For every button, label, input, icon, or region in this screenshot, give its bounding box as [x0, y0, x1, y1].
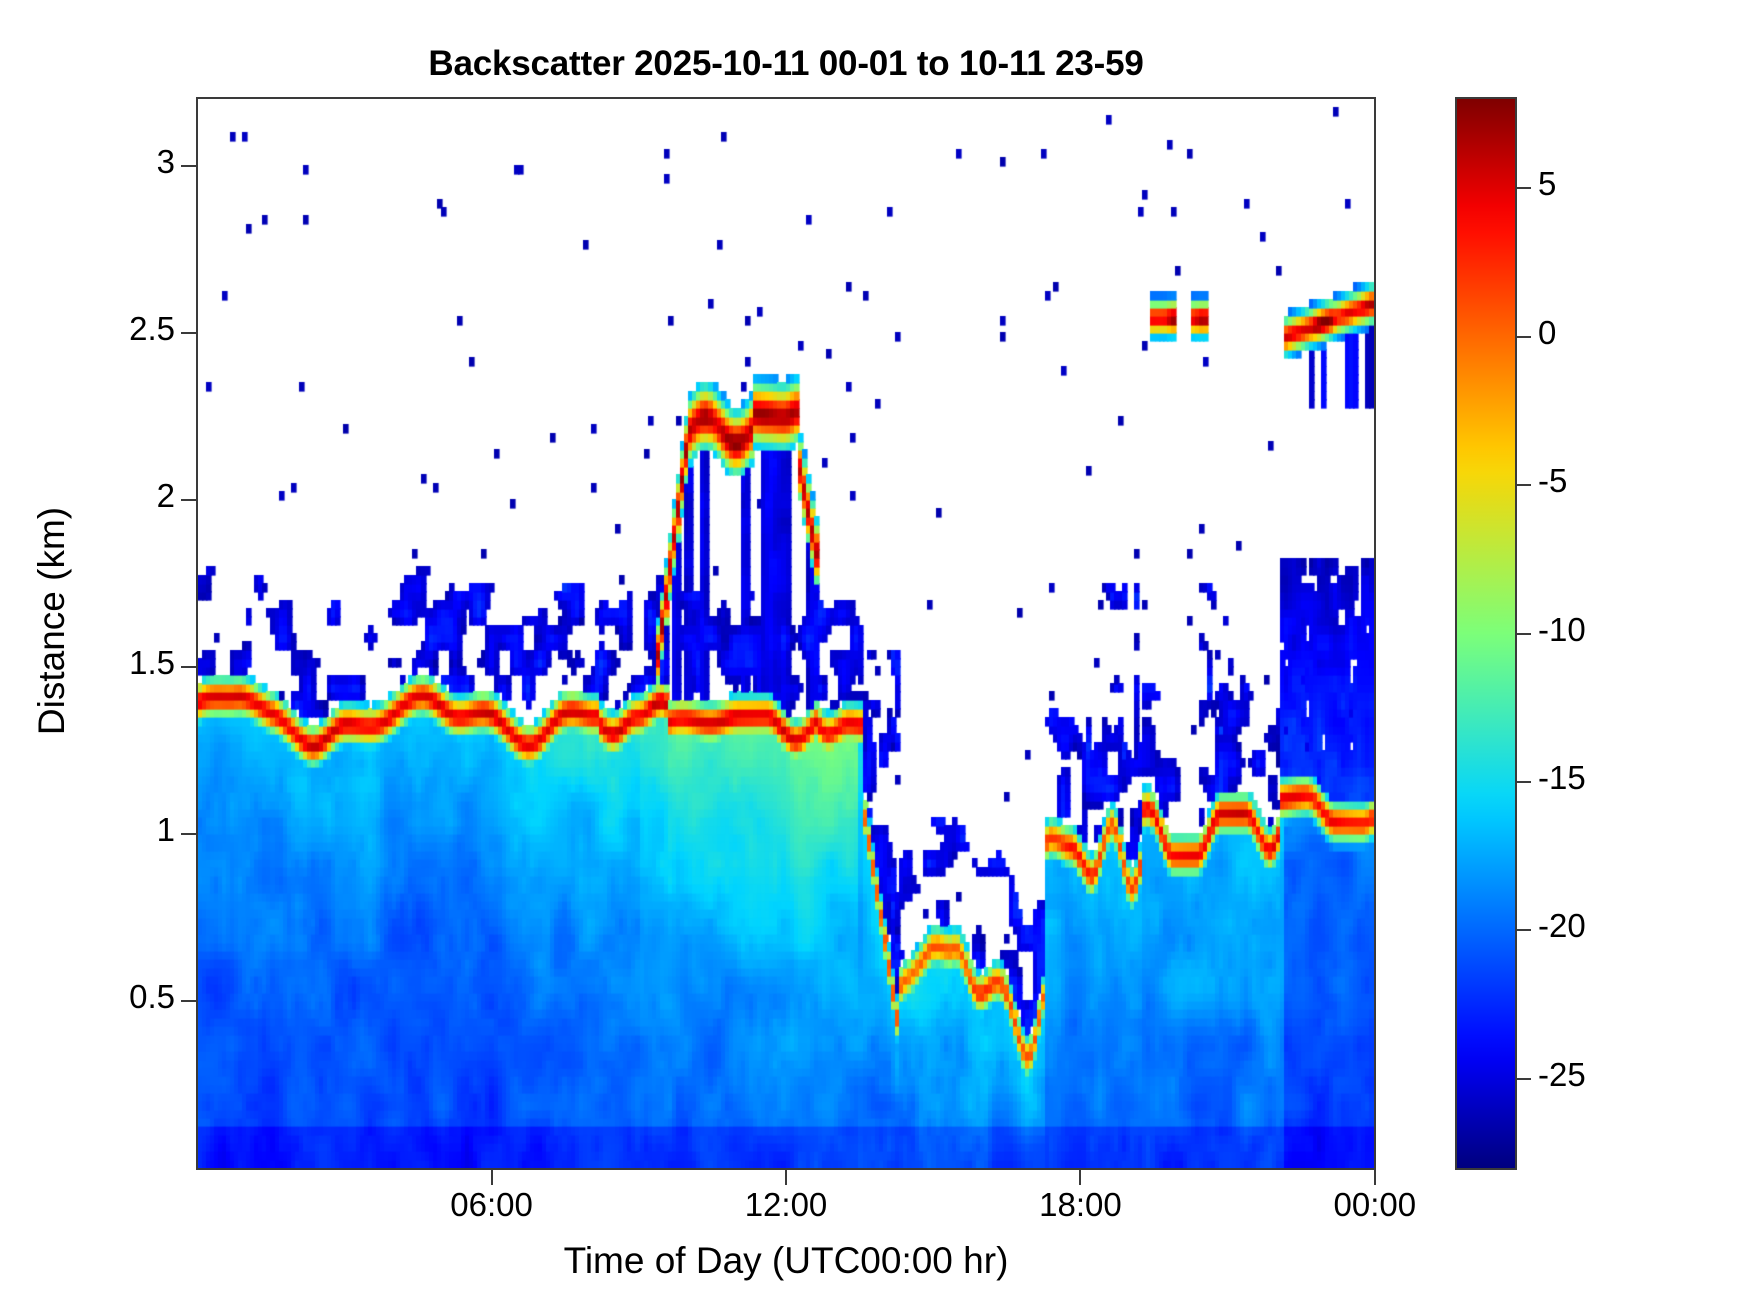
- x-tick-mark: [1374, 1170, 1376, 1185]
- colorbar-tick-mark: [1517, 187, 1531, 189]
- colorbar-tick-mark: [1517, 484, 1531, 486]
- colorbar-gradient: [1457, 99, 1515, 1168]
- colorbar-tick-mark: [1517, 336, 1531, 338]
- y-tick-label: 3: [157, 143, 175, 181]
- backscatter-figure: Backscatter 2025-10-11 00-01 to 10-11 23…: [0, 0, 1750, 1313]
- colorbar-tick-mark: [1517, 781, 1531, 783]
- y-tick-mark: [181, 332, 196, 334]
- x-tick-label: 06:00: [412, 1186, 572, 1224]
- x-axis-label: Time of Day (UTC00:00 hr): [196, 1240, 1376, 1282]
- colorbar-tick-label: 5: [1538, 165, 1556, 203]
- y-tick-mark: [181, 1000, 196, 1002]
- y-axis-label: Distance (km): [31, 411, 73, 831]
- y-tick-label: 2: [157, 477, 175, 515]
- colorbar-tick-mark: [1517, 1078, 1531, 1080]
- y-tick-mark: [181, 666, 196, 668]
- y-tick-mark: [181, 165, 196, 167]
- colorbar-tick-label: -5: [1538, 462, 1567, 500]
- y-tick-label: 1.5: [129, 644, 175, 682]
- y-tick-label: 1: [157, 811, 175, 849]
- y-tick-label: 2.5: [129, 310, 175, 348]
- y-tick-label: 0.5: [129, 978, 175, 1016]
- colorbar-tick-label: -10: [1538, 611, 1586, 649]
- colorbar-tick-label: 0: [1538, 314, 1556, 352]
- x-tick-mark: [785, 1170, 787, 1185]
- y-tick-mark: [181, 833, 196, 835]
- page-title: Backscatter 2025-10-11 00-01 to 10-11 23…: [196, 44, 1376, 84]
- y-tick-mark: [181, 499, 196, 501]
- colorbar-tick-label: -25: [1538, 1056, 1586, 1094]
- colorbar: [1455, 97, 1517, 1170]
- x-tick-mark: [1079, 1170, 1081, 1185]
- colorbar-tick-label: -20: [1538, 907, 1586, 945]
- colorbar-tick-label: -15: [1538, 759, 1586, 797]
- x-tick-label: 12:00: [706, 1186, 866, 1224]
- plot-area: [196, 97, 1376, 1170]
- colorbar-tick-mark: [1517, 929, 1531, 931]
- colorbar-tick-mark: [1517, 633, 1531, 635]
- heatmap-canvas: [198, 99, 1374, 1168]
- x-tick-label: 18:00: [1000, 1186, 1160, 1224]
- x-tick-label: 00:00: [1295, 1186, 1455, 1224]
- x-tick-mark: [491, 1170, 493, 1185]
